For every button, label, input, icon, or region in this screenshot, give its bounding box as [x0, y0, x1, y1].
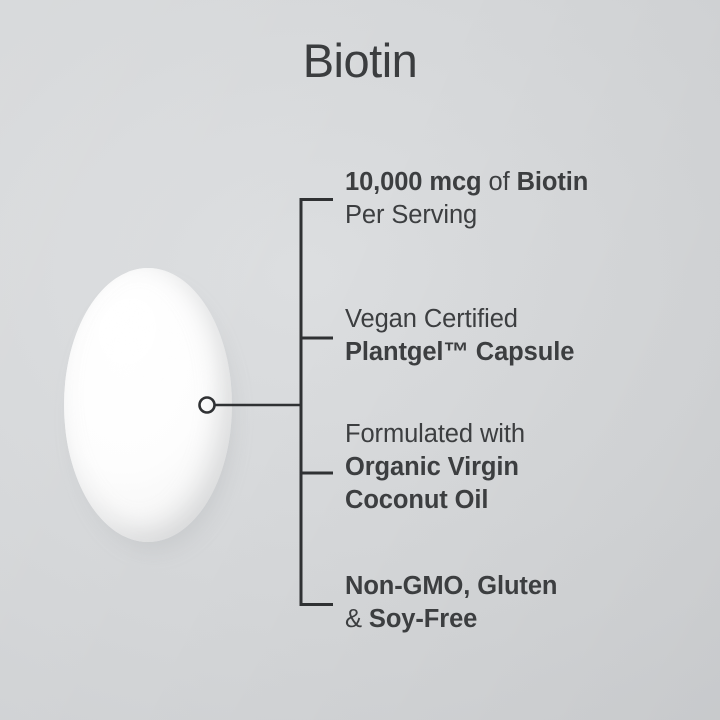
feature-line: Organic Virgin: [345, 451, 695, 484]
feature-text-segment: Non-GMO, Gluten: [345, 572, 557, 600]
feature-line: Coconut Oil: [345, 484, 695, 517]
feature-line: & Soy-Free: [345, 603, 695, 636]
product-capsule-image: [64, 268, 232, 542]
feature-line: Per Serving: [345, 199, 695, 232]
feature-item-free-from: Non-GMO, Gluten& Soy-Free: [345, 570, 695, 636]
feature-text-segment: of: [489, 168, 517, 196]
feature-text-segment: Vegan Certified: [345, 305, 518, 333]
feature-text-segment: Coconut Oil: [345, 486, 488, 514]
infographic-canvas: Biotin 10,000 mcg of BiotinPer Serving V…: [0, 0, 720, 720]
feature-line: Non-GMO, Gluten: [345, 570, 695, 603]
feature-list: 10,000 mcg of BiotinPer Serving Vegan Ce…: [345, 0, 705, 720]
feature-text-segment: Formulated with: [345, 420, 525, 448]
feature-line: Vegan Certified: [345, 303, 695, 336]
feature-text-segment: Plantgel™ Capsule: [345, 338, 574, 366]
capsule-body: [64, 268, 232, 542]
feature-text-segment: Biotin: [517, 168, 589, 196]
feature-text-segment: Per Serving: [345, 201, 477, 229]
feature-line: 10,000 mcg of Biotin: [345, 166, 695, 199]
feature-item-dosage: 10,000 mcg of BiotinPer Serving: [345, 166, 695, 232]
feature-item-vegan-capsule: Vegan CertifiedPlantgel™ Capsule: [345, 303, 695, 369]
feature-line: Plantgel™ Capsule: [345, 336, 695, 369]
feature-text-segment: Soy-Free: [369, 605, 477, 633]
feature-text-segment: &: [345, 605, 369, 633]
feature-item-coconut-oil: Formulated withOrganic VirginCoconut Oil: [345, 418, 695, 517]
feature-text-segment: 10,000 mcg: [345, 168, 489, 196]
feature-text-segment: Organic Virgin: [345, 453, 519, 481]
feature-line: Formulated with: [345, 418, 695, 451]
capsule-highlight: [91, 293, 178, 392]
